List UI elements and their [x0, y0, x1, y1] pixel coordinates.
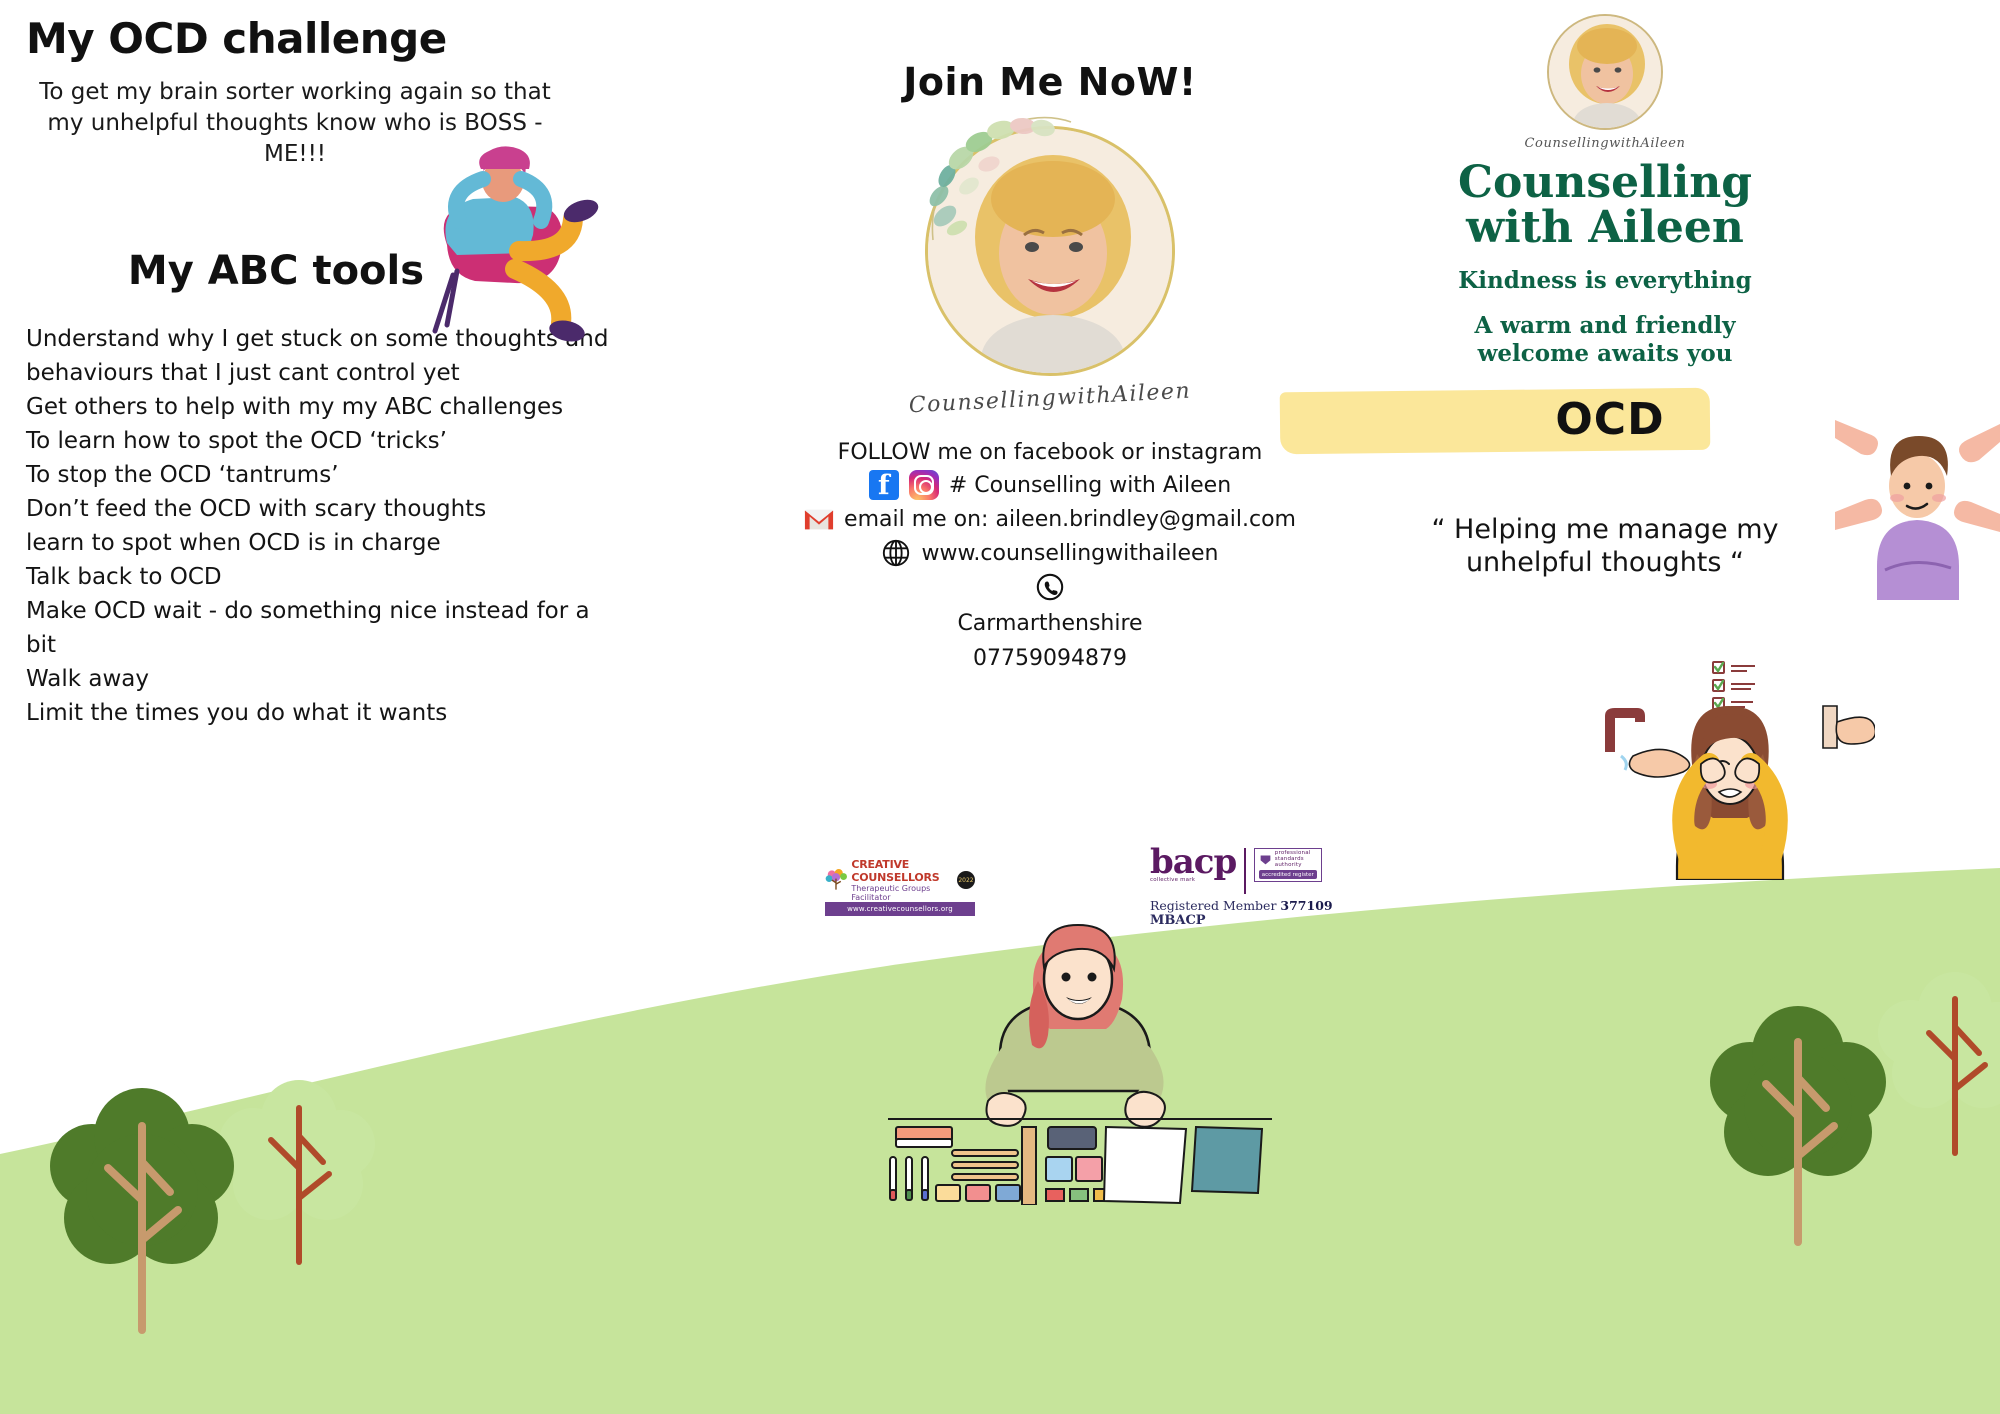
ocd-banner: OCD	[1370, 390, 1840, 456]
creative-logo-name: CREATIVE COUNSELLORS	[851, 858, 954, 884]
psa-line-3: authority	[1275, 863, 1311, 869]
join-me-now-title: Join Me NoW!	[780, 60, 1320, 104]
list-item: Limit the times you do what it wants	[26, 696, 626, 730]
divider	[1244, 848, 1246, 894]
greenery-wreath-icon	[903, 100, 1083, 280]
brand-welcome-line2: welcome awaits you	[1370, 340, 1840, 368]
list-item: To learn how to spot the OCD ‘tricks’	[26, 424, 626, 458]
psa-tick-icon	[1259, 853, 1272, 866]
right-column: CounsellingwithAileen Counselling with A…	[1370, 14, 1840, 580]
follow-line: FOLLOW me on facebook or instagram	[780, 437, 1320, 468]
list-item: Walk away	[26, 662, 626, 696]
quote-line-1: “ Helping me manage my	[1370, 514, 1840, 547]
brand-tagline: Kindness is everything	[1370, 267, 1840, 294]
creative-logo-subtitle: Therapeutic Groups Facilitator	[851, 884, 954, 902]
tree-logo-icon	[825, 864, 848, 896]
abc-tools-list: Understand why I get stuck on some thoug…	[26, 322, 626, 730]
person-relaxing-chair-illustration	[395, 125, 605, 345]
brand-welcome-line1: A warm and friendly	[1370, 312, 1840, 340]
phone-icon-row	[780, 570, 1320, 604]
list-item: To stop the OCD ‘tantrums’	[26, 458, 626, 492]
phone-icon[interactable]	[1035, 572, 1065, 602]
left-column: My OCD challenge To get my brain sorter …	[26, 14, 646, 731]
psa-badge: professional standards authority accredi…	[1254, 848, 1322, 882]
list-item: learn to spot when OCD is in charge	[26, 526, 626, 560]
brand-name-line1: Counselling	[1370, 161, 1840, 206]
ocd-banner-text: OCD	[1380, 394, 1840, 445]
brand-welcome: A warm and friendly welcome awaits you	[1370, 312, 1840, 368]
facebook-icon[interactable]	[869, 470, 899, 500]
year-badge: 2022	[957, 871, 975, 889]
brand-name-line2: with Aileen	[1370, 206, 1840, 251]
page-title-ocd-challenge: My OCD challenge	[26, 14, 646, 63]
website-row[interactable]: www.counsellingwithaileen	[780, 536, 1320, 570]
email-row[interactable]: email me on: aileen.brindley@gmail.com	[780, 502, 1320, 536]
quote-block: “ Helping me manage my unhelpful thought…	[1370, 514, 1840, 580]
phone-number: 07759094879	[780, 643, 1320, 674]
aileen-portrait	[925, 126, 1175, 376]
woman-at-desk-illustration	[870, 905, 1290, 1205]
brand-signature: CounsellingwithAileen	[1370, 136, 1840, 151]
stressed-woman-illustration	[1585, 660, 1875, 880]
tree-dark-icon	[30, 1040, 330, 1370]
location-text: Carmarthenshire	[780, 608, 1320, 639]
man-pointed-at-illustration	[1835, 390, 2000, 600]
quote-line-2: unhelpful thoughts “	[1370, 547, 1840, 580]
psa-accredited-chip: accredited register	[1259, 870, 1317, 879]
list-item: Get others to help with my my ABC challe…	[26, 390, 626, 424]
instagram-icon[interactable]	[909, 470, 939, 500]
contact-block: FOLLOW me on facebook or instagram # Cou…	[780, 437, 1320, 675]
bacp-wordmark: bacp	[1150, 848, 1236, 877]
brand-avatar	[1547, 14, 1663, 130]
social-handle-row: # Counselling with Aileen	[780, 468, 1320, 502]
poster-page: My OCD challenge To get my brain sorter …	[0, 0, 2000, 1414]
globe-icon[interactable]	[881, 538, 911, 568]
list-item: Don’t feed the OCD with scary thoughts	[26, 492, 626, 526]
gmail-icon[interactable]	[804, 504, 834, 534]
list-item: Make OCD wait - do something nice instea…	[26, 594, 626, 662]
website-text: www.counsellingwithaileen	[921, 538, 1218, 569]
social-handle-text: # Counselling with Aileen	[949, 470, 1231, 501]
list-item: Talk back to OCD	[26, 560, 626, 594]
email-text: email me on: aileen.brindley@gmail.com	[844, 504, 1296, 535]
portrait-signature: CounsellingwithAileen	[780, 372, 1321, 425]
tree-dark-right-icon	[1690, 960, 1980, 1290]
middle-column: Join Me NoW!	[780, 60, 1320, 675]
